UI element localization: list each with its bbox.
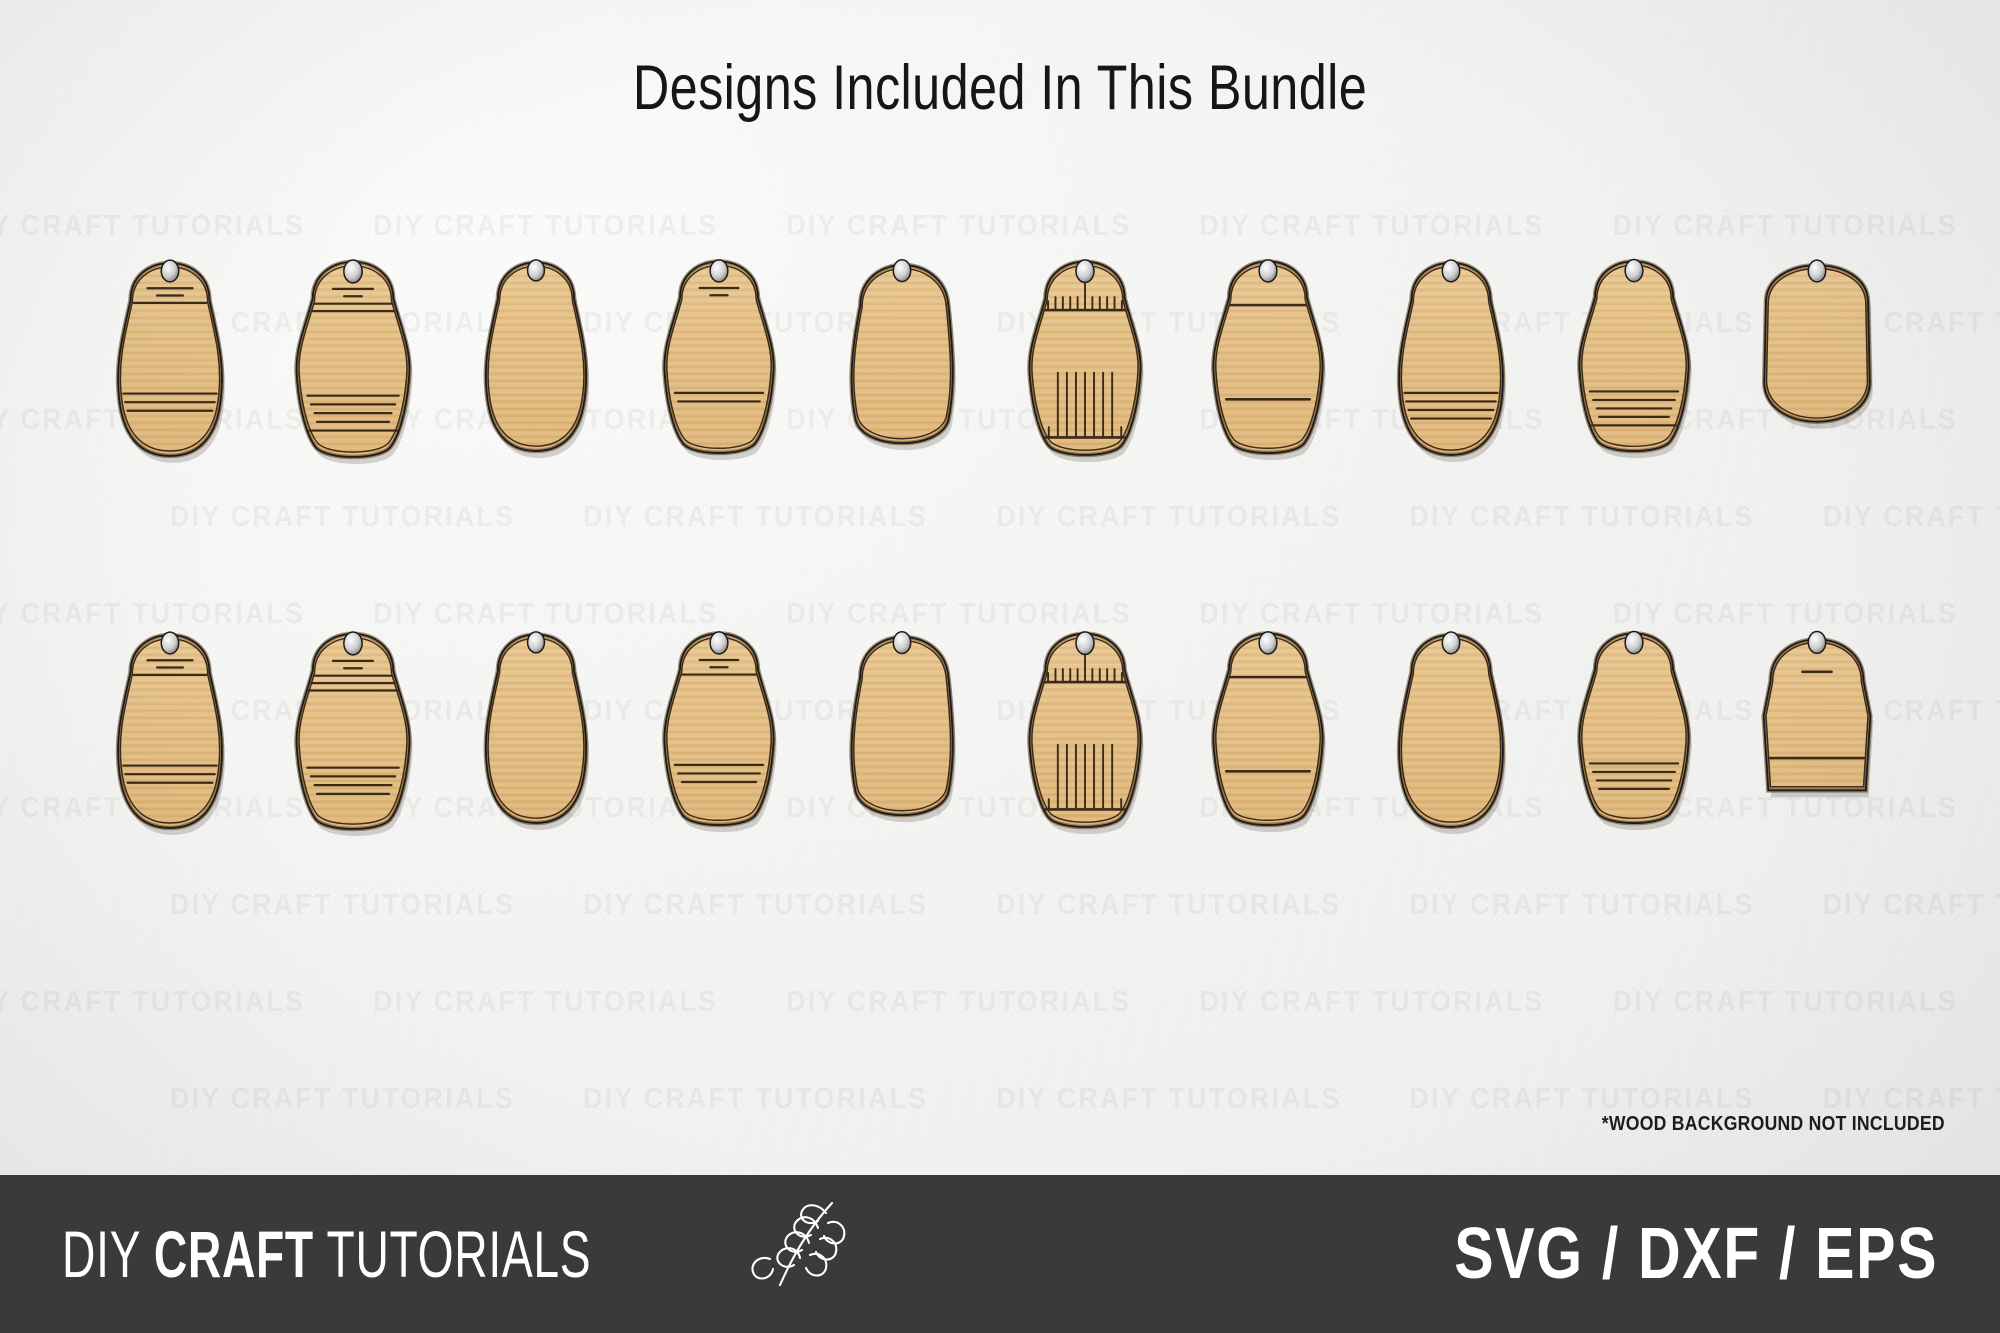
brand-diy: DIY [62, 1217, 154, 1291]
design-row-1 [0, 228, 2000, 474]
design-tag [1725, 228, 1908, 474]
design-tag [444, 600, 627, 846]
design-tag [993, 600, 1176, 846]
disclaimer-note: *WOOD BACKGROUND NOT INCLUDED [1602, 1113, 1945, 1136]
brand-text: DIY CRAFT TUTORIALS [62, 1221, 591, 1287]
design-tag [1176, 600, 1359, 846]
file-formats-label: SVG / DXF / EPS [1454, 1213, 1938, 1295]
design-tag [1542, 228, 1725, 474]
design-tag [78, 228, 261, 474]
design-tag [444, 228, 627, 474]
design-tag [993, 228, 1176, 474]
brand-lockup: DIY CRAFT TUTORIALS [62, 1211, 850, 1298]
watermark-row: DIY CRAFT TUTORIALSDIY CRAFT TUTORIALSDI… [170, 501, 1854, 534]
design-tag [78, 600, 261, 846]
watermark-row: DIY CRAFT TUTORIALSDIY CRAFT TUTORIALSDI… [170, 889, 1854, 922]
design-tag [810, 600, 993, 846]
design-tag [261, 228, 444, 474]
footer-bar: DIY CRAFT TUTORIALS [0, 1175, 2000, 1333]
design-tag [1176, 228, 1359, 474]
design-tag [627, 600, 810, 846]
watermark-row: DIY CRAFT TUTORIALSDIY CRAFT TUTORIALSDI… [170, 1083, 1854, 1116]
botanical-sprig-icon [740, 1197, 850, 1298]
brand-tutorials: TUTORIALS [314, 1217, 591, 1291]
design-tag [810, 228, 993, 474]
design-tag [1542, 600, 1725, 846]
design-tag [261, 600, 444, 846]
design-row-2 [0, 600, 2000, 846]
design-tag [1725, 600, 1908, 846]
design-tag [1359, 600, 1542, 846]
design-tag [627, 228, 810, 474]
watermark-row: DIY CRAFT TUTORIALSDIY CRAFT TUTORIALSDI… [0, 986, 1837, 1019]
brand-craft: CRAFT [154, 1217, 314, 1291]
poster-canvas: DIY CRAFT TUTORIALSDIY CRAFT TUTORIALSDI… [0, 0, 2000, 1333]
page-title: Designs Included In This Bundle [200, 52, 1800, 124]
design-tag [1359, 228, 1542, 474]
